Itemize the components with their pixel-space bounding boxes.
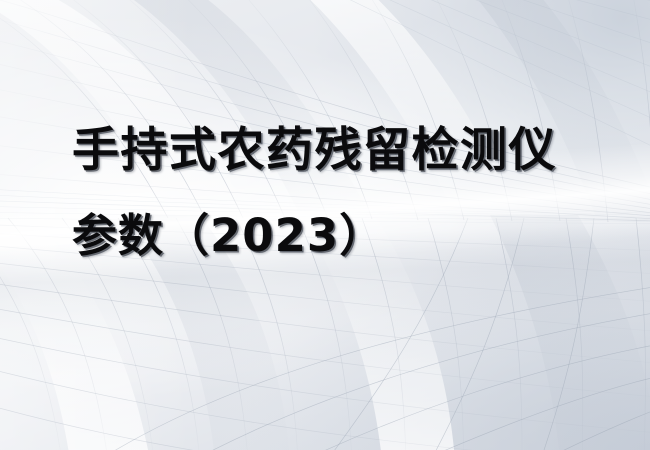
page-title: 手持式农药残留检测仪 参数（2023） [72, 122, 612, 264]
title-banner: 手持式农药残留检测仪 参数（2023） [0, 0, 650, 450]
title-line-primary: 手持式农药残留检测仪 [72, 122, 612, 180]
title-line-secondary: 参数（2023） [72, 208, 612, 264]
